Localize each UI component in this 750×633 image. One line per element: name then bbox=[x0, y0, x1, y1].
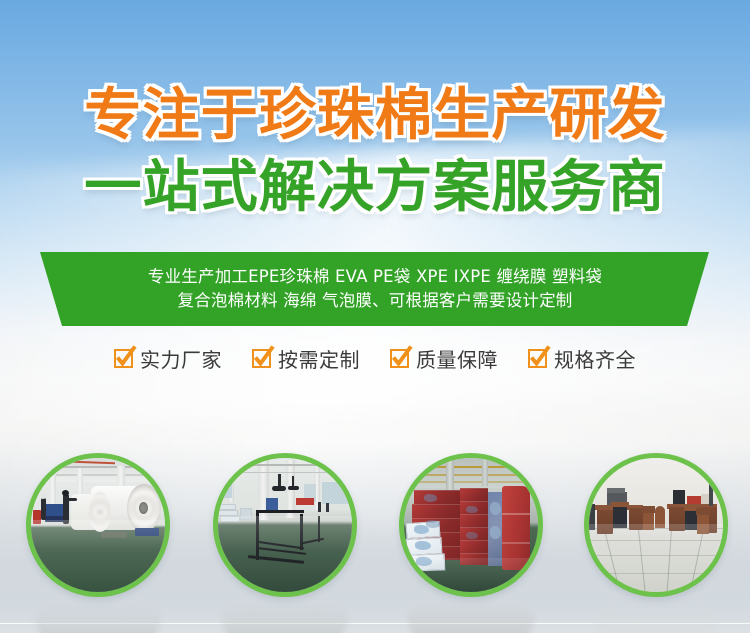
photo-workshop-floor bbox=[213, 453, 357, 597]
photo-circle-frame bbox=[399, 453, 543, 597]
photo-circle-frame bbox=[584, 453, 728, 597]
photo-production-line-scene bbox=[31, 458, 165, 592]
photo-office-scene bbox=[589, 458, 723, 592]
photo-gallery bbox=[0, 0, 750, 633]
photo-reflection bbox=[34, 603, 162, 633]
photo-warehouse-stock bbox=[399, 453, 543, 597]
photo-reflection bbox=[592, 603, 720, 633]
promotional-banner: 专注于珍珠棉生产研发 一站式解决方案服务商 专业生产加工EPE珍珠棉 EVA P… bbox=[0, 0, 750, 633]
photo-circle-frame bbox=[213, 453, 357, 597]
photo-office bbox=[584, 453, 728, 597]
photo-circle-frame bbox=[26, 453, 170, 597]
photo-warehouse-stock-scene bbox=[404, 458, 538, 592]
photo-reflection bbox=[221, 603, 349, 633]
photo-reflection bbox=[407, 603, 535, 633]
photo-production-line bbox=[26, 453, 170, 597]
photo-workshop-floor-scene bbox=[218, 458, 352, 592]
